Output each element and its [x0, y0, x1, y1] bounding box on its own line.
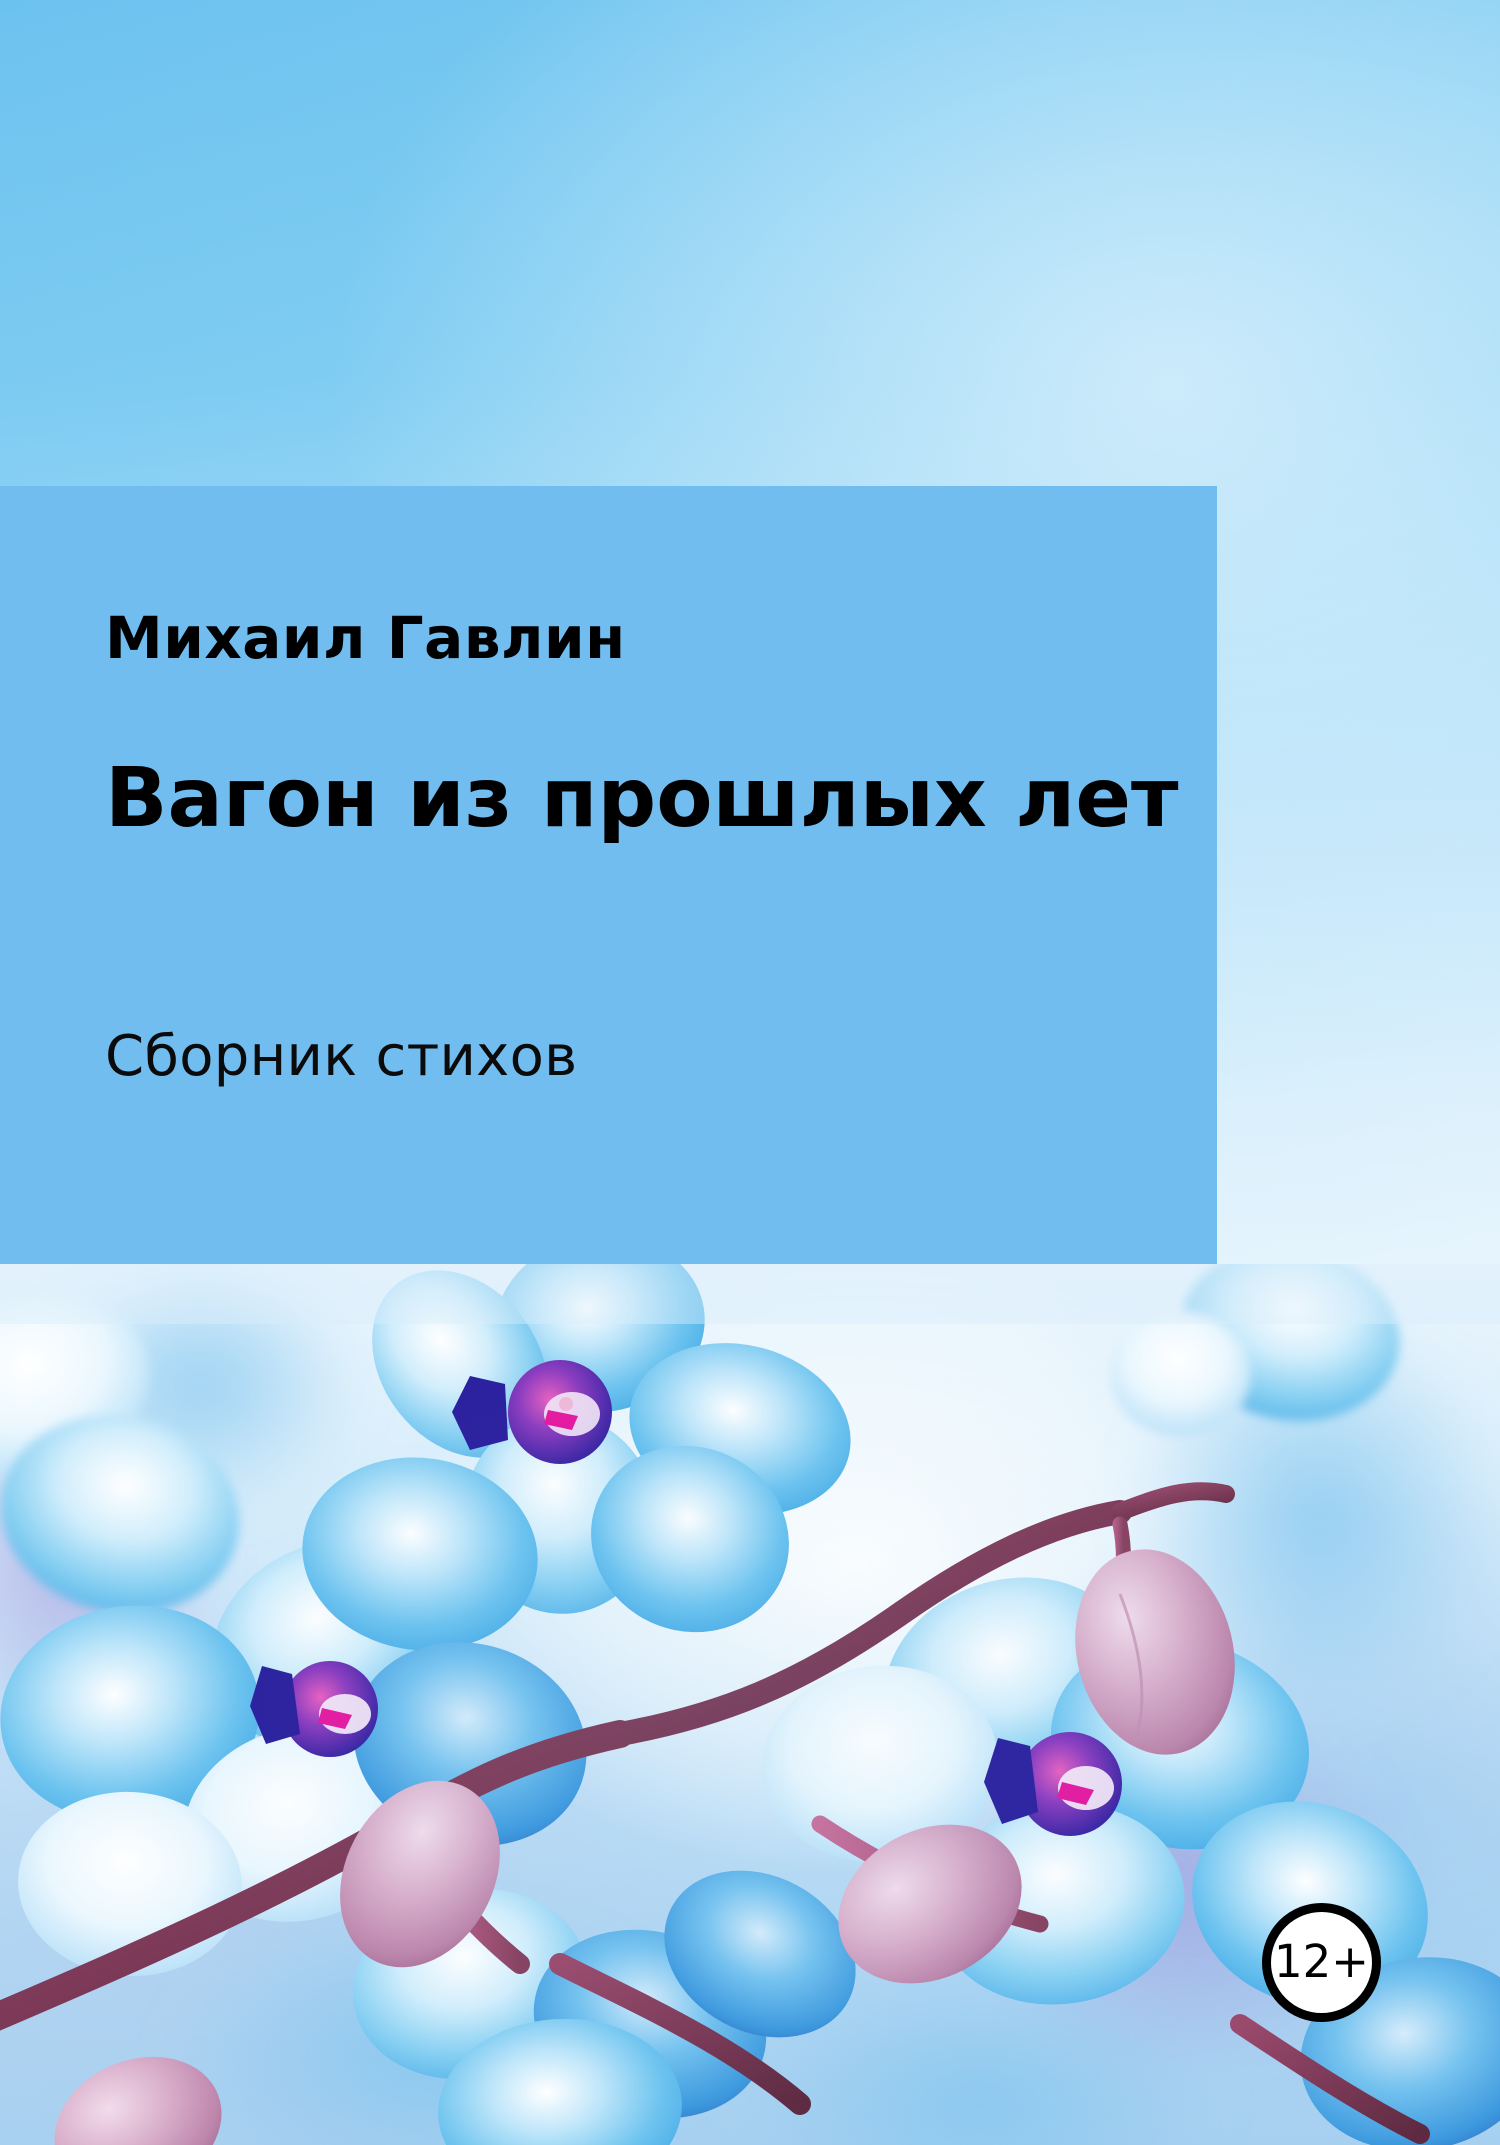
- orchid-photograph: [0, 1264, 1500, 2145]
- author-name: Михаил Гавлин: [105, 608, 626, 669]
- book-subtitle: Сборник стихов: [105, 1028, 578, 1087]
- orchid-artwork: [0, 1264, 1500, 2145]
- cover-text-block: Михаил Гавлин Вагон из прошлых лет Сборн…: [105, 486, 1165, 1264]
- book-title: Вагон из прошлых лет: [105, 756, 1179, 842]
- age-rating-badge: 12+: [1262, 1903, 1381, 2022]
- age-rating-label: 12+: [1274, 1939, 1369, 1984]
- book-cover: Михаил Гавлин Вагон из прошлых лет Сборн…: [0, 0, 1500, 2145]
